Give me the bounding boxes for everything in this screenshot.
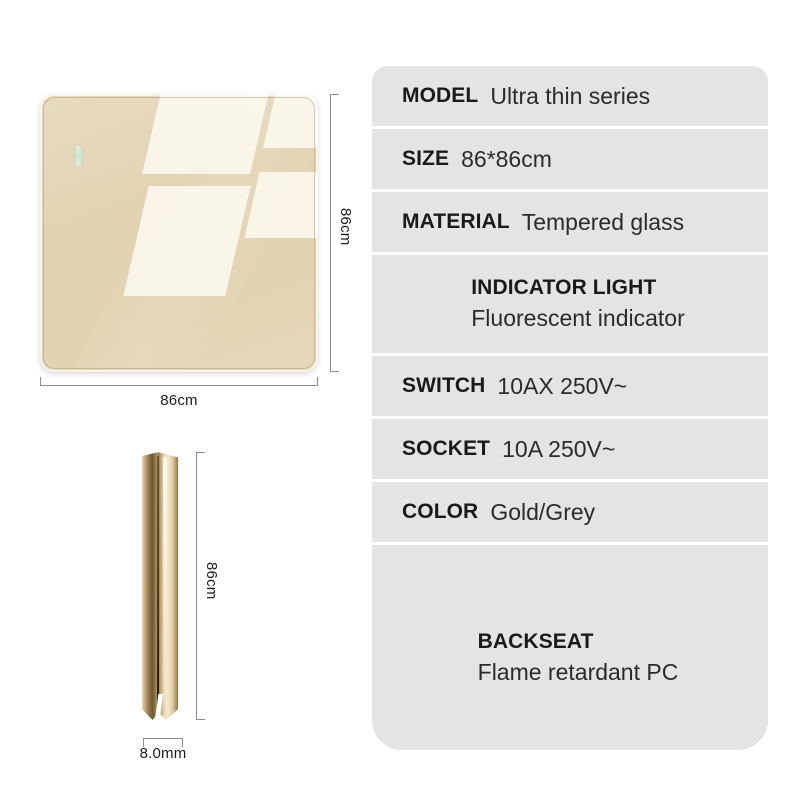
- window-reflection-bottom-right: [244, 172, 318, 238]
- dimension-line-front-width: [40, 385, 318, 386]
- dimension-line-front-height: [330, 94, 331, 372]
- reflection-softening-overlay: [40, 94, 318, 372]
- spec-row-value: 10AX 250V~: [497, 373, 627, 400]
- dimension-line-side-height: [196, 452, 197, 720]
- specification-sheet: MODELUltra thin seriesSIZE86*86cmMATERIA…: [372, 66, 768, 750]
- spec-row-value: 86*86cm: [461, 146, 552, 173]
- spec-row-value: Tempered glass: [522, 209, 684, 236]
- product-front-view: [40, 94, 318, 372]
- spec-row-key: MATERIAL: [402, 210, 510, 234]
- window-reflection-bottom-left: [123, 186, 250, 296]
- product-side-profile-view: [138, 452, 184, 720]
- spec-row: MATERIALTempered glass: [372, 192, 768, 255]
- side-profile-body: [138, 452, 184, 720]
- dimension-label-front-width: 86cm: [0, 392, 358, 409]
- dimension-line-thickness: [143, 738, 183, 739]
- spec-row-key: INDICATOR LIGHT: [471, 276, 656, 300]
- glass-switch-panel: [40, 94, 318, 372]
- spec-row: MODELUltra thin series: [372, 66, 768, 129]
- glass-sheen-overlay: [40, 94, 318, 372]
- spec-row-value: Flame retardant PC: [478, 659, 679, 686]
- window-reflection-top-left: [142, 94, 270, 174]
- spec-row: SWITCH10AX 250V~: [372, 356, 768, 419]
- spec-row: SOCKET10A 250V~: [372, 419, 768, 482]
- spec-row-value: 10A 250V~: [502, 436, 615, 463]
- spec-row-key: BACKSEAT: [478, 630, 594, 654]
- spec-row-key: SIZE: [402, 147, 449, 171]
- spec-row-key: SWITCH: [402, 374, 485, 398]
- dimension-label-side-height: 86cm: [203, 562, 220, 599]
- spec-row-key: COLOR: [402, 500, 478, 524]
- side-seam-shadow: [157, 456, 159, 704]
- spec-row: SIZE86*86cm: [372, 129, 768, 192]
- spec-row-key: MODEL: [402, 84, 478, 108]
- spec-row-value: Fluorescent indicator: [471, 305, 685, 332]
- side-front-glass-edge: [158, 452, 178, 720]
- side-specular-highlight: [163, 457, 167, 704]
- fluorescent-indicator-light: [76, 146, 81, 166]
- spec-row-value: Gold/Grey: [490, 499, 595, 526]
- spec-row-key: SOCKET: [402, 437, 490, 461]
- dimension-label-thickness: 8.0mm: [83, 745, 243, 762]
- dimension-label-front-height: 86cm: [337, 208, 354, 245]
- spec-row: INDICATOR LIGHTFluorescent indicator: [372, 255, 768, 356]
- spec-row: BACKSEATFlame retardant PC: [372, 545, 768, 750]
- spec-row: COLORGold/Grey: [372, 482, 768, 545]
- spec-row-value: Ultra thin series: [490, 83, 650, 110]
- window-reflection-top-right: [263, 94, 318, 148]
